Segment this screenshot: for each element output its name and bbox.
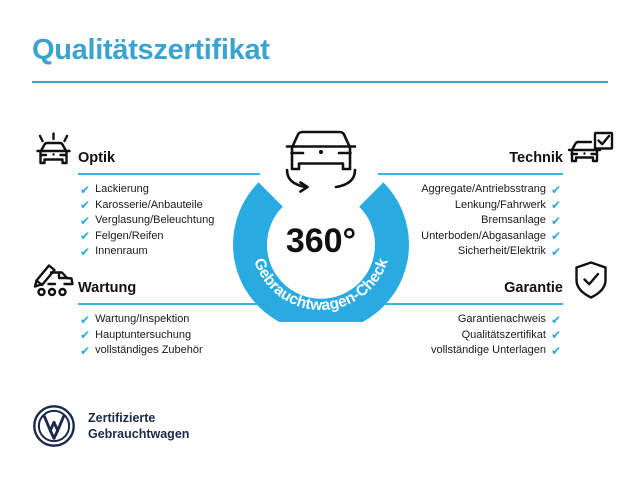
check-icon: ✔ (551, 230, 561, 242)
list-item: Qualitätszertifikat✔ (312, 328, 617, 344)
badge-360-check: 360° Gebrauchtwagen-Check (228, 112, 414, 322)
check-icon: ✔ (551, 246, 561, 258)
check-icon: ✔ (551, 215, 561, 227)
check-icon: ✔ (551, 184, 561, 196)
list-item-label: Bremsanlage (481, 213, 546, 229)
certificate-page: Qualitätszertifikat Optik (0, 0, 640, 480)
badge-center-label: 360° (286, 222, 356, 260)
section-title-optik: Optik (78, 150, 115, 166)
list-item: ✔vollständiges Zubehör (28, 343, 328, 359)
check-icon: ✔ (80, 230, 90, 242)
car-checkbox-icon (565, 128, 617, 172)
section-title-garantie: Garantie (504, 280, 563, 296)
check-icon: ✔ (551, 199, 561, 211)
car-pencil-service-icon (28, 258, 80, 302)
footer-text: Zertifizierte Gebrauchtwagen (88, 410, 189, 442)
check-icon: ✔ (80, 345, 90, 357)
check-icon: ✔ (80, 329, 90, 341)
list-item-label: Qualitätszertifikat (462, 328, 546, 344)
check-icon: ✔ (80, 246, 90, 258)
list-item-label: Hauptuntersuchung (95, 328, 191, 344)
page-title: Qualitätszertifikat (32, 34, 270, 67)
list-item-label: vollständiges Zubehör (95, 343, 203, 359)
check-icon: ✔ (551, 314, 561, 326)
check-icon: ✔ (551, 329, 561, 341)
shield-check-icon (565, 258, 617, 302)
list-item-label: Lackierung (95, 182, 149, 198)
list-item: vollständige Unterlagen✔ (312, 343, 617, 359)
footer-branding: Zertifizierte Gebrauchtwagen (32, 404, 189, 448)
list-item-label: Lenkung/Fahrwerk (455, 198, 546, 214)
list-item-label: Karosserie/Anbauteile (95, 198, 203, 214)
list-item-label: Verglasung/Beleuchtung (95, 213, 214, 229)
list-item-label: vollständige Unterlagen (431, 343, 546, 359)
check-icon: ✔ (551, 345, 561, 357)
header-divider (32, 81, 608, 83)
list-item-label: Felgen/Reifen (95, 229, 164, 245)
list-item: ✔Hauptuntersuchung (28, 328, 328, 344)
check-icon: ✔ (80, 215, 90, 227)
footer-line-1: Zertifizierte (88, 411, 155, 425)
list-item-label: Aggregate/Antriebsstrang (421, 182, 546, 198)
footer-line-2: Gebrauchtwagen (88, 427, 189, 441)
section-title-technik: Technik (509, 150, 563, 166)
list-item-label: Unterboden/Abgasanlage (421, 229, 546, 245)
car-shine-icon (28, 128, 80, 172)
vw-logo (32, 404, 76, 448)
list-item-label: Garantienachweis (458, 312, 546, 328)
check-icon: ✔ (80, 314, 90, 326)
section-title-wartung: Wartung (78, 280, 136, 296)
list-item-label: Wartung/Inspektion (95, 312, 189, 328)
check-icon: ✔ (80, 184, 90, 196)
check-icon: ✔ (80, 199, 90, 211)
car-rotation-icon (287, 132, 355, 192)
